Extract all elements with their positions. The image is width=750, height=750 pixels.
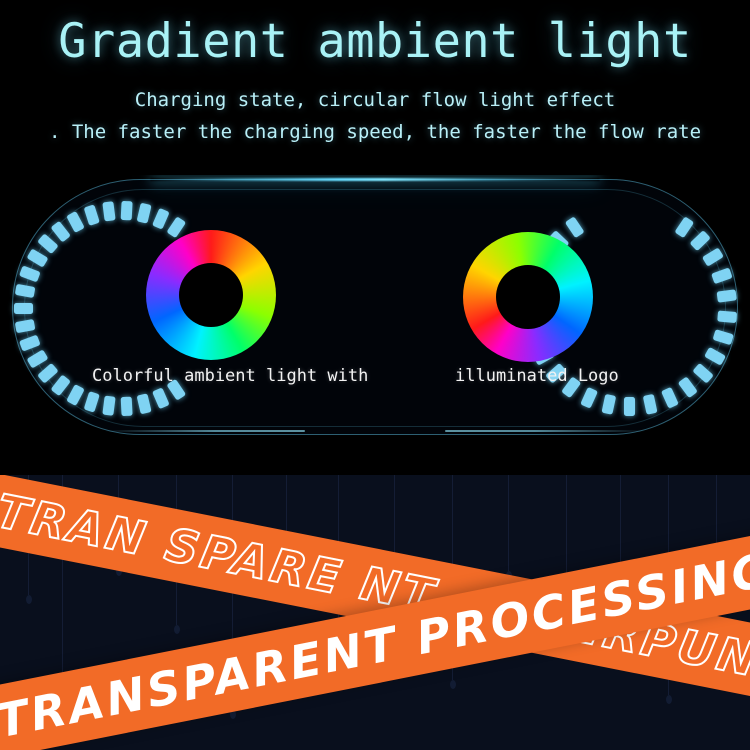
tick-mark xyxy=(642,393,657,414)
tick-mark xyxy=(50,374,70,396)
hanging-light-bulb xyxy=(450,680,456,689)
page-title: Gradient ambient light xyxy=(0,14,750,70)
frame-bottom-glow-right xyxy=(445,430,645,432)
tick-mark xyxy=(66,210,85,232)
subtitle-line-1: Charging state, circular flow light effe… xyxy=(0,88,750,112)
tick-mark xyxy=(701,247,723,266)
frame-top-glow xyxy=(150,178,600,181)
rgb-ring-left xyxy=(146,230,276,360)
tick-mark xyxy=(704,346,726,365)
hanging-light-line xyxy=(508,475,509,571)
hanging-light-bulb xyxy=(26,595,32,604)
tick-mark xyxy=(677,376,697,398)
tick-mark xyxy=(14,283,35,297)
tick-mark xyxy=(580,386,598,408)
tick-mark xyxy=(166,216,186,238)
tick-mark xyxy=(151,387,169,409)
tick-mark xyxy=(26,349,48,368)
hanging-light-bulb xyxy=(666,695,672,704)
tick-mark xyxy=(564,216,584,238)
header-section: Gradient ambient light Charging state, c… xyxy=(0,0,750,175)
rgb-ring-right xyxy=(463,232,593,362)
tick-mark xyxy=(712,329,733,345)
subtitle-line-2: . The faster the charging speed, the fas… xyxy=(0,120,750,144)
ring-caption-left: Colorful ambient light with xyxy=(92,365,368,387)
hud-panel-section: Colorful ambient light with illuminated … xyxy=(0,175,750,475)
tick-mark xyxy=(136,202,151,223)
tick-mark xyxy=(83,204,99,225)
tick-mark xyxy=(66,384,85,406)
tick-mark xyxy=(716,289,736,302)
tick-mark xyxy=(37,362,59,383)
tick-mark xyxy=(660,386,678,408)
tick-mark xyxy=(692,362,714,383)
tick-mark xyxy=(37,233,59,254)
banner-section: TRAN SPARE NT ... BERPUNK STY TRANSPAREN… xyxy=(0,475,750,750)
tick-mark xyxy=(711,267,733,284)
tick-mark xyxy=(102,395,115,415)
tick-mark xyxy=(120,396,132,416)
tick-mark xyxy=(14,318,35,332)
ring-caption-right: illuminated Logo xyxy=(455,365,619,387)
tick-mark xyxy=(601,393,616,414)
tick-mark xyxy=(18,334,40,351)
tick-mark xyxy=(50,220,70,242)
tick-mark xyxy=(120,200,132,220)
tick-mark xyxy=(26,248,48,267)
tick-mark xyxy=(14,303,33,314)
tick-mark xyxy=(83,391,99,412)
tick-mark xyxy=(717,310,737,323)
tick-mark xyxy=(689,230,710,251)
hanging-light-bulb xyxy=(174,625,180,634)
tick-mark xyxy=(624,397,635,416)
tick-mark xyxy=(674,216,694,238)
tick-mark xyxy=(151,207,169,229)
product-marketing-banner: Gradient ambient light Charging state, c… xyxy=(0,0,750,750)
tick-mark xyxy=(102,201,115,221)
tick-mark xyxy=(18,265,40,282)
tick-mark xyxy=(136,393,151,414)
frame-bottom-glow-left xyxy=(105,430,305,432)
